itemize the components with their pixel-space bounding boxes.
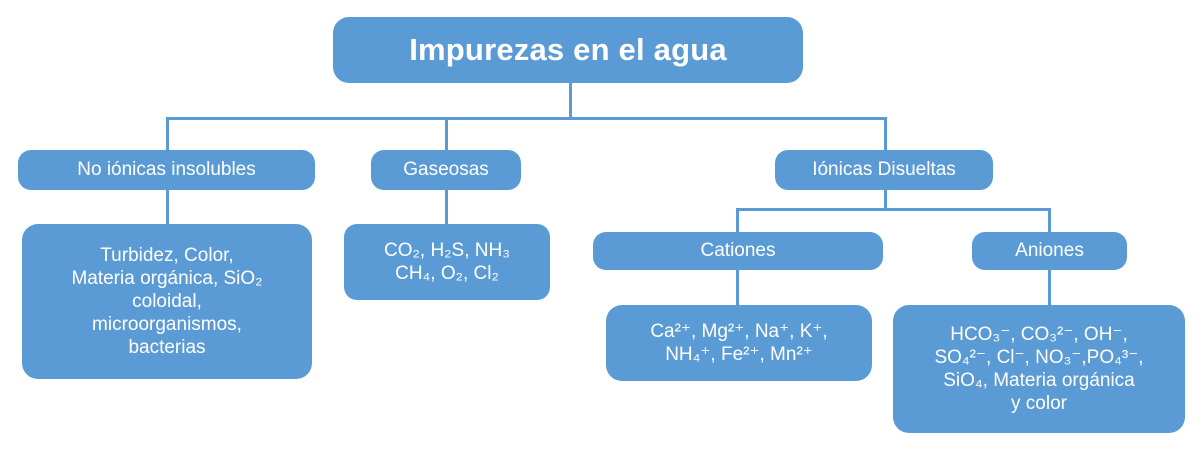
- connector-ionicas-stem: [884, 189, 887, 210]
- connector-gaseosas-to-content: [445, 189, 448, 224]
- connector-drop-cationes: [736, 208, 739, 234]
- connector-subbranch-bar: [736, 208, 1051, 211]
- content-node-cationes[interactable]: Ca²⁺, Mg²⁺, Na⁺, K⁺, NH₄⁺, Fe²⁺, Mn²⁺: [606, 305, 872, 381]
- subcategory-node-aniones[interactable]: Aniones: [972, 232, 1127, 270]
- content-node-no-ionicas-insolubles[interactable]: Turbidez, Color, Materia orgánica, SiO₂ …: [22, 224, 312, 379]
- connector-drop-ionicas: [884, 117, 887, 151]
- connector-no-ionicas-to-content: [166, 189, 169, 224]
- subcategory-node-cationes[interactable]: Cationes: [593, 232, 883, 270]
- connector-drop-no-ionicas: [166, 117, 169, 151]
- connector-drop-aniones: [1048, 208, 1051, 234]
- category-node-ionicas-disueltas[interactable]: Iónicas Disueltas: [775, 150, 993, 190]
- category-node-no-ionicas-insolubles[interactable]: No iónicas insolubles: [18, 150, 315, 190]
- connector-drop-gaseosas: [445, 117, 448, 151]
- connector-aniones-to-content: [1048, 270, 1051, 305]
- connector-cationes-to-content: [736, 270, 739, 305]
- connector-level2-bar: [166, 117, 887, 120]
- category-node-gaseosas[interactable]: Gaseosas: [371, 150, 521, 190]
- connector-root-stem: [569, 82, 572, 119]
- content-node-gaseosas[interactable]: CO₂, H₂S, NH₃ CH₄, O₂, Cl₂: [344, 224, 550, 300]
- root-node-impurezas-en-el-agua[interactable]: Impurezas en el agua: [333, 17, 803, 83]
- content-node-aniones[interactable]: HCO₃⁻, CO₃²⁻, OH⁻, SO₄²⁻, Cl⁻, NO₃⁻,PO₄³…: [893, 305, 1185, 433]
- impurities-tree-diagram: Impurezas en el agua No iónicas insolubl…: [0, 0, 1200, 454]
